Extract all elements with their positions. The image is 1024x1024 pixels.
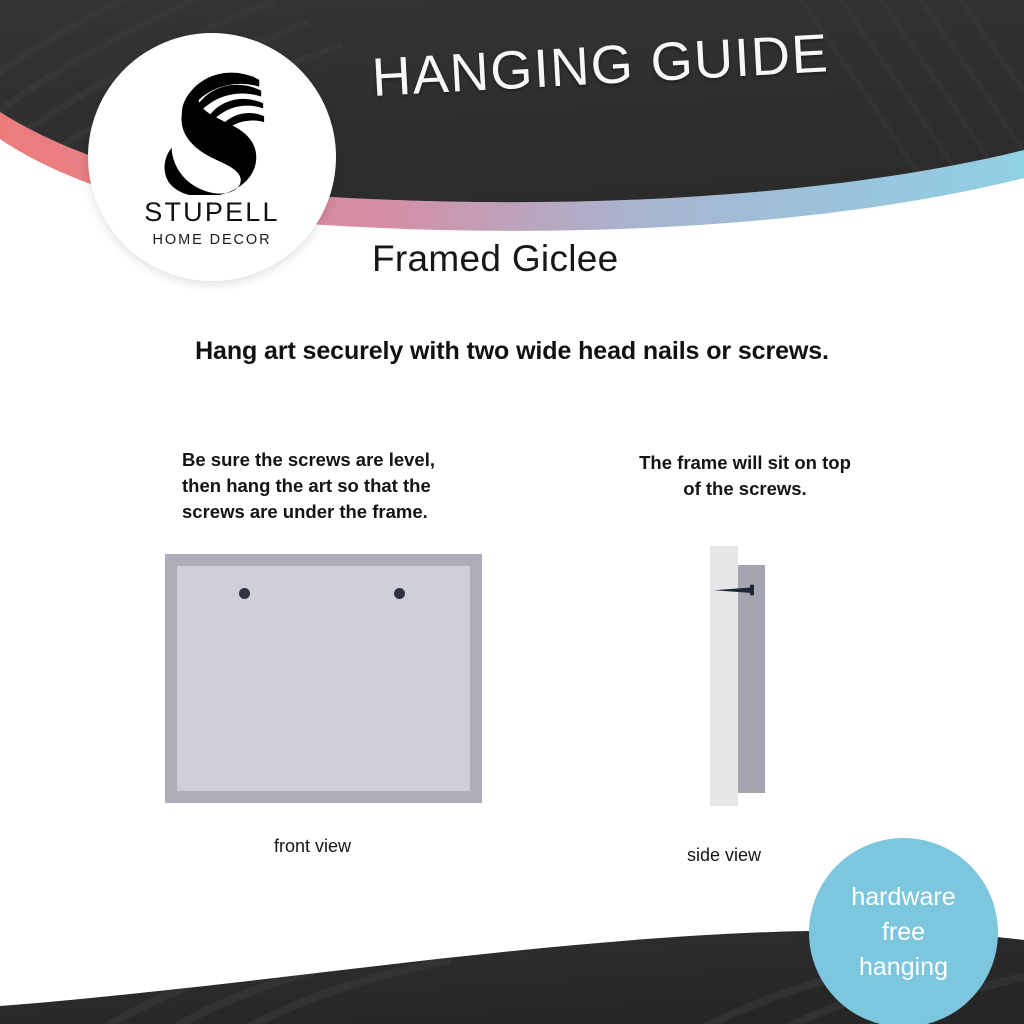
hanging-guide-page: STUPELL HOME DECOR HANGING GUIDE Framed … — [0, 0, 1024, 1024]
hardware-free-hanging-badge: hardware free hanging — [809, 838, 998, 1024]
product-type-label: Framed Giclee — [372, 238, 619, 280]
logo-subwordmark: HOME DECOR — [153, 232, 272, 248]
side-view-label: side view — [687, 845, 761, 866]
nail-icon — [714, 583, 762, 597]
badge-line-1: hardware — [851, 880, 955, 915]
side-view-frame-diagram — [700, 546, 810, 808]
caption-line: of the screws. — [600, 476, 890, 502]
caption-line: screws are under the frame. — [182, 499, 482, 525]
caption-line: then hang the art so that the — [182, 473, 482, 499]
front-view-caption: Be sure the screws are level, then hang … — [182, 447, 482, 525]
logo-wordmark: STUPELL — [144, 197, 279, 228]
screw-dot-left — [239, 588, 250, 599]
badge-line-2: free — [882, 915, 925, 950]
stupell-swoosh-icon — [153, 63, 271, 195]
screw-dot-right — [394, 588, 405, 599]
front-view-label: front view — [274, 836, 351, 857]
front-view-frame-diagram — [165, 554, 482, 803]
side-view-caption: The frame will sit on top of the screws. — [600, 450, 890, 502]
brand-logo-badge: STUPELL HOME DECOR — [88, 33, 336, 281]
caption-line: The frame will sit on top — [600, 450, 890, 476]
lead-instruction-text: Hang art securely with two wide head nai… — [0, 337, 1024, 366]
caption-line: Be sure the screws are level, — [182, 447, 482, 473]
page-title: HANGING GUIDE — [370, 22, 830, 109]
frame-edge-strip — [738, 565, 765, 793]
badge-line-3: hanging — [859, 950, 948, 985]
frame-mat-area — [177, 566, 470, 791]
